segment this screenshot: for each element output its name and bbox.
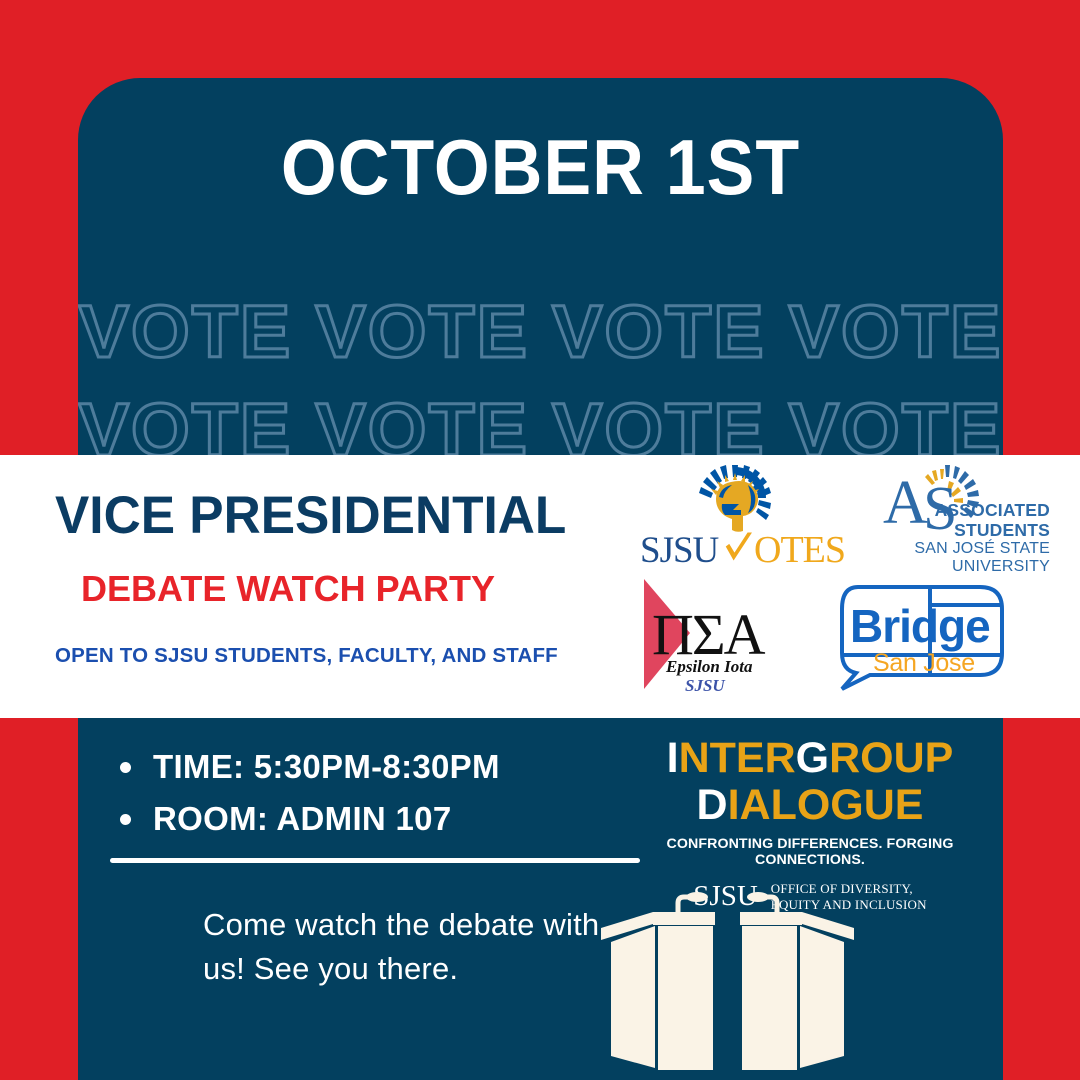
psa-chapter: Epsilon Iota (666, 657, 752, 677)
as-line-1: ASSOCIATED STUDENTS (835, 501, 1050, 540)
sjsu-votes-logo: SJSU OTES (640, 463, 845, 573)
vote-row: VOTE VOTE VOTE VOTE (78, 283, 1003, 381)
intergroup-dialogue-logo: INTERGROUP DIALOGUE CONFRONTING DIFFEREN… (645, 735, 975, 913)
info-band: VICE PRESIDENTIAL DEBATE WATCH PARTY OPE… (0, 455, 1080, 718)
psa-school: SJSU (685, 676, 725, 696)
igd-l1-b: NTER (679, 734, 796, 782)
igd-l2-b: IALOGUE (728, 781, 924, 829)
detail-time: TIME: 5:30PM-8:30PM (153, 748, 500, 786)
spartan-helmet-icon (692, 463, 778, 533)
sjsu-votes-wordmark: SJSU OTES (640, 527, 845, 573)
event-details-list: TIME: 5:30PM-8:30PM ROOM: ADMIN 107 (120, 748, 500, 852)
podiums-svg (595, 890, 860, 1080)
page-title: OCTOBER 1ST (115, 122, 966, 213)
event-subtitle: DEBATE WATCH PARTY (81, 567, 635, 611)
pi-sigma-alpha-logo: ΠΣΑ Epsilon Iota SJSU (630, 577, 780, 697)
igd-l1-c: G (796, 734, 829, 782)
votes-word: OTES (754, 528, 845, 572)
list-item: TIME: 5:30PM-8:30PM (120, 748, 500, 786)
igd-line-1: INTERGROUP (645, 735, 975, 781)
flyer-canvas: OCTOBER 1ST VOTE VOTE VOTE VOTE VOTE VOT… (0, 0, 1080, 1080)
bridge-sub-word: San Jose (873, 649, 975, 678)
closing-message: Come watch the debate with us! See you t… (203, 903, 623, 991)
bridge-word: Bridge (850, 599, 990, 653)
igd-line-2: DIALOGUE (645, 781, 975, 829)
band-text-block: VICE PRESIDENTIAL DEBATE WATCH PARTY OPE… (55, 485, 635, 668)
debate-podiums-icon (595, 890, 860, 1080)
igd-l2-a: D (697, 781, 728, 829)
event-title: VICE PRESIDENTIAL (55, 485, 618, 547)
as-line-2: SAN JOSÉ STATE UNIVERSITY (835, 540, 1050, 576)
bridge-san-jose-logo: Bridge San Jose (830, 583, 1020, 691)
igd-l1-d: ROUP (829, 734, 953, 782)
as-wordmark: ASSOCIATED STUDENTS SAN JOSÉ STATE UNIVE… (835, 501, 1050, 576)
list-item: ROOM: ADMIN 107 (120, 800, 500, 838)
bullet-icon (120, 762, 131, 773)
sjsu-word: SJSU (640, 529, 718, 572)
event-audience: OPEN TO SJSU STUDENTS, FACULTY, AND STAF… (55, 644, 635, 668)
divider (110, 858, 640, 863)
bullet-icon (120, 814, 131, 825)
detail-room: ROOM: ADMIN 107 (153, 800, 451, 838)
igd-l1-a: I (667, 734, 679, 782)
igd-tagline: CONFRONTING DIFFERENCES. FORGING CONNECT… (645, 836, 975, 868)
associated-students-logo: A S ASSOCIATED STUDENTS SAN JOSÉ STATE U… (835, 461, 1050, 576)
checkmark-icon (724, 530, 754, 570)
